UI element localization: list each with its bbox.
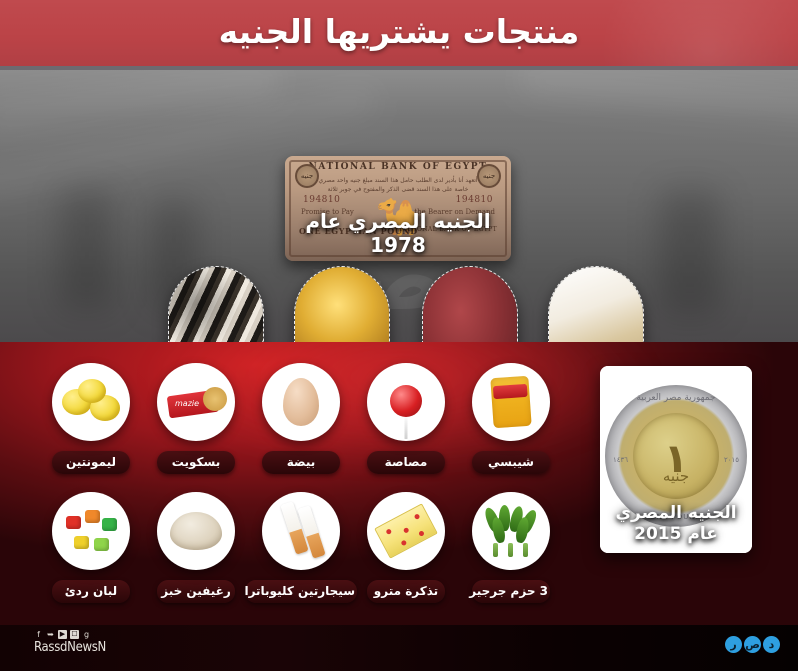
item-image-circle xyxy=(52,492,130,570)
banknote-serial-left: 194810 xyxy=(303,195,340,205)
arch-card-rice[interactable]: 20 كيلو أرز xyxy=(548,266,644,342)
coin-caption: الجنيه المصري عام 2015 xyxy=(600,503,752,546)
banknote-seal-right: جنيه xyxy=(477,164,501,188)
coin-year-gregorian: ٢٠١٥ xyxy=(724,456,739,464)
coin-ring-text-top: جمهورية مصر العربية xyxy=(605,393,747,403)
header-banner: منتجات يشتريها الجنيه xyxy=(0,0,798,68)
item-image-circle xyxy=(472,492,550,570)
item-image-circle xyxy=(157,492,235,570)
egg-icon xyxy=(264,365,338,439)
item-label: تذكرة مترو xyxy=(367,580,445,603)
item-label: شيبسي xyxy=(472,451,550,474)
footer-brand-name: RassdNewsN xyxy=(34,640,106,655)
item-biscuit[interactable]: mazie بسكويت xyxy=(157,363,235,474)
cigarettes-image xyxy=(169,267,263,342)
facebook-icon[interactable]: f xyxy=(34,630,43,639)
item-lollipop[interactable]: مصاصة xyxy=(367,363,445,474)
ticket-icon xyxy=(369,494,443,568)
banknote-caption: الجنيه المصري عام 1978 xyxy=(285,209,511,257)
item-image-circle: mazie xyxy=(157,363,235,441)
lollipop-icon xyxy=(369,365,443,439)
banknote-arabic-text: أتعهد أنا بأدير لدى الطلب حامل هذا السند… xyxy=(315,176,481,194)
item-lemons[interactable]: ليمونتين xyxy=(52,363,130,474)
youtube-icon[interactable]: ▶ xyxy=(58,630,67,639)
gold-image xyxy=(295,267,389,342)
lemons-icon xyxy=(54,365,128,439)
item-label: بسكويت xyxy=(157,451,235,474)
googleplus-icon[interactable]: g xyxy=(82,630,91,639)
item-label: مصاصة xyxy=(367,451,445,474)
section-1978: رصد NATIONAL BANK OF EGYPT أتعهد أنا بأد… xyxy=(0,70,798,342)
coin-caption-line1: الجنيه المصري xyxy=(615,503,736,523)
arch-card-gold[interactable]: جرام ونصف من الذهب xyxy=(294,266,390,342)
item-egg[interactable]: بيضة xyxy=(262,363,340,474)
bg-blur-2 xyxy=(519,70,798,127)
item-image-circle xyxy=(367,363,445,441)
coin-caption-line2: عام 2015 xyxy=(634,524,718,544)
arch-card-meat[interactable]: كيلو لحم xyxy=(422,266,518,342)
item-metro-ticket[interactable]: تذكرة مترو xyxy=(367,492,445,603)
item-label: رغيفين خبز xyxy=(157,580,235,603)
item-label: ليمونتين xyxy=(52,451,130,474)
biscuit-icon: mazie xyxy=(159,365,233,439)
logo-letter-ra: ر xyxy=(725,636,742,653)
coin-word: جنيه xyxy=(663,467,689,485)
twitter-icon[interactable]: ➥ xyxy=(46,630,55,639)
banknote-serial-right: 194810 xyxy=(456,195,493,205)
item-image-circle xyxy=(367,492,445,570)
logo-letter-sad: ص xyxy=(744,636,761,653)
item-image-circle xyxy=(262,492,340,570)
rice-image xyxy=(549,267,643,342)
footer-brand: f ➥ ▶ ☐ g RassdNewsN xyxy=(34,630,106,655)
coin-year-hijri: ١٤٣٦ xyxy=(613,456,628,464)
cigarettes-icon xyxy=(264,494,338,568)
item-label: لبان ردئ xyxy=(52,580,130,603)
item-label: بيضة xyxy=(262,451,340,474)
rassd-logo[interactable]: ر ص د xyxy=(725,636,780,653)
banknote-seal-left: جنيه xyxy=(295,164,319,188)
chips-icon xyxy=(474,365,548,439)
item-label: سيجارتين كليوباترا xyxy=(245,580,357,603)
arch-card-cigarettes[interactable]: 160 سيجارة xyxy=(168,266,264,342)
item-image-circle xyxy=(262,363,340,441)
footer-bar xyxy=(0,625,798,671)
instagram-icon[interactable]: ☐ xyxy=(70,630,79,639)
gum-icon xyxy=(54,494,128,568)
page-title: منتجات يشتريها الجنيه xyxy=(0,12,798,51)
arugula-icon xyxy=(474,494,548,568)
item-bread[interactable]: رغيفين خبز xyxy=(157,492,235,603)
coin-panel-2015[interactable]: جمهورية مصر العربية ١٤٣٦ ٢٠١٥ ONE POUND … xyxy=(600,366,752,553)
item-chips[interactable]: شيبسي xyxy=(472,363,550,474)
social-icons: f ➥ ▶ ☐ g xyxy=(34,630,106,639)
item-label: 3 حزم جرجير xyxy=(472,580,550,603)
banknote-1978: NATIONAL BANK OF EGYPT أتعهد أنا بأدير ل… xyxy=(285,156,511,261)
item-arugula[interactable]: 3 حزم جرجير xyxy=(472,492,550,603)
item-gum[interactable]: لبان ردئ xyxy=(52,492,130,603)
bread-icon xyxy=(159,494,233,568)
coin-inner-disc: ١ جنيه xyxy=(633,413,719,499)
item-image-circle xyxy=(472,363,550,441)
item-cigarettes[interactable]: سيجارتين كليوباترا xyxy=(262,492,340,603)
infographic-page: منتجات يشتريها الجنيه رصد NATIONAL BANK … xyxy=(0,0,798,671)
item-image-circle xyxy=(52,363,130,441)
meat-image xyxy=(423,267,517,342)
logo-letter-dal: د xyxy=(763,636,780,653)
